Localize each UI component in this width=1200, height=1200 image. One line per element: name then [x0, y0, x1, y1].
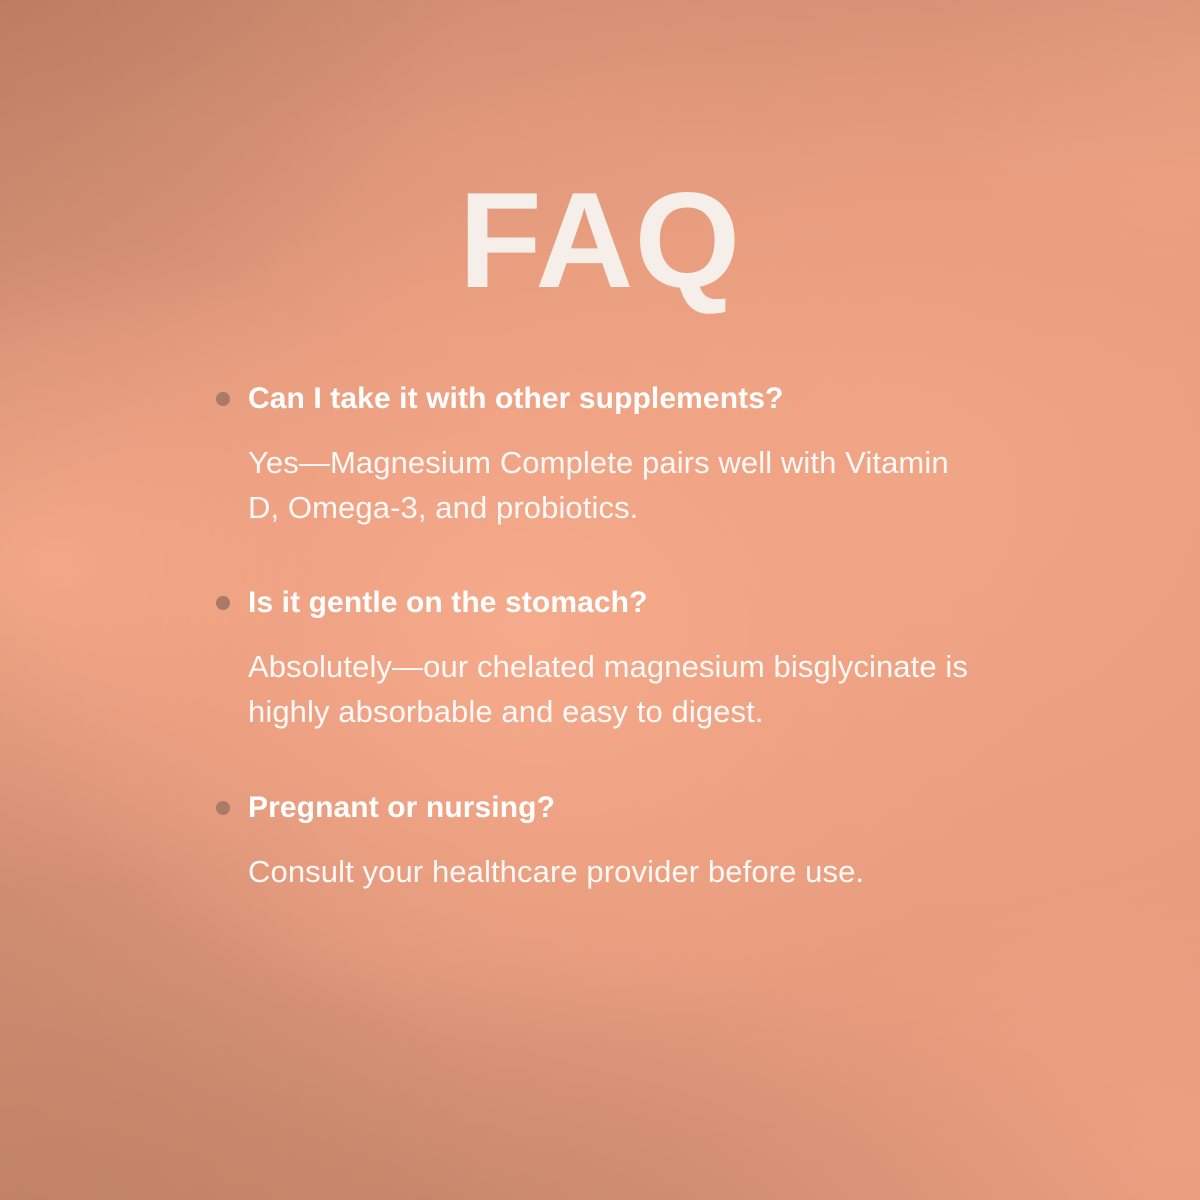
faq-item: Is it gentle on the stomach? Absolutely—…	[216, 582, 1036, 734]
faq-question: Can I take it with other supplements?	[248, 378, 783, 421]
faq-list: Can I take it with other supplements? Ye…	[216, 378, 1036, 894]
faq-answer: Yes—Magnesium Complete pairs well with V…	[248, 441, 978, 531]
dot-bullet-icon	[216, 596, 230, 610]
faq-question: Pregnant or nursing?	[248, 787, 555, 830]
faq-question-row[interactable]: Is it gentle on the stomach?	[216, 582, 1036, 625]
faq-card: FAQ Can I take it with other supplements…	[0, 0, 1200, 1200]
page-title: FAQ	[0, 172, 1200, 308]
faq-question-row[interactable]: Can I take it with other supplements?	[216, 378, 1036, 421]
dot-bullet-icon	[216, 801, 230, 815]
faq-content: FAQ Can I take it with other supplements…	[0, 0, 1200, 1200]
faq-question: Is it gentle on the stomach?	[248, 582, 648, 625]
faq-item: Pregnant or nursing? Consult your health…	[216, 787, 1036, 895]
faq-answer: Consult your healthcare provider before …	[248, 850, 978, 895]
faq-item: Can I take it with other supplements? Ye…	[216, 378, 1036, 530]
faq-answer: Absolutely—our chelated magnesium bisgly…	[248, 645, 978, 735]
dot-bullet-icon	[216, 392, 230, 406]
faq-question-row[interactable]: Pregnant or nursing?	[216, 787, 1036, 830]
